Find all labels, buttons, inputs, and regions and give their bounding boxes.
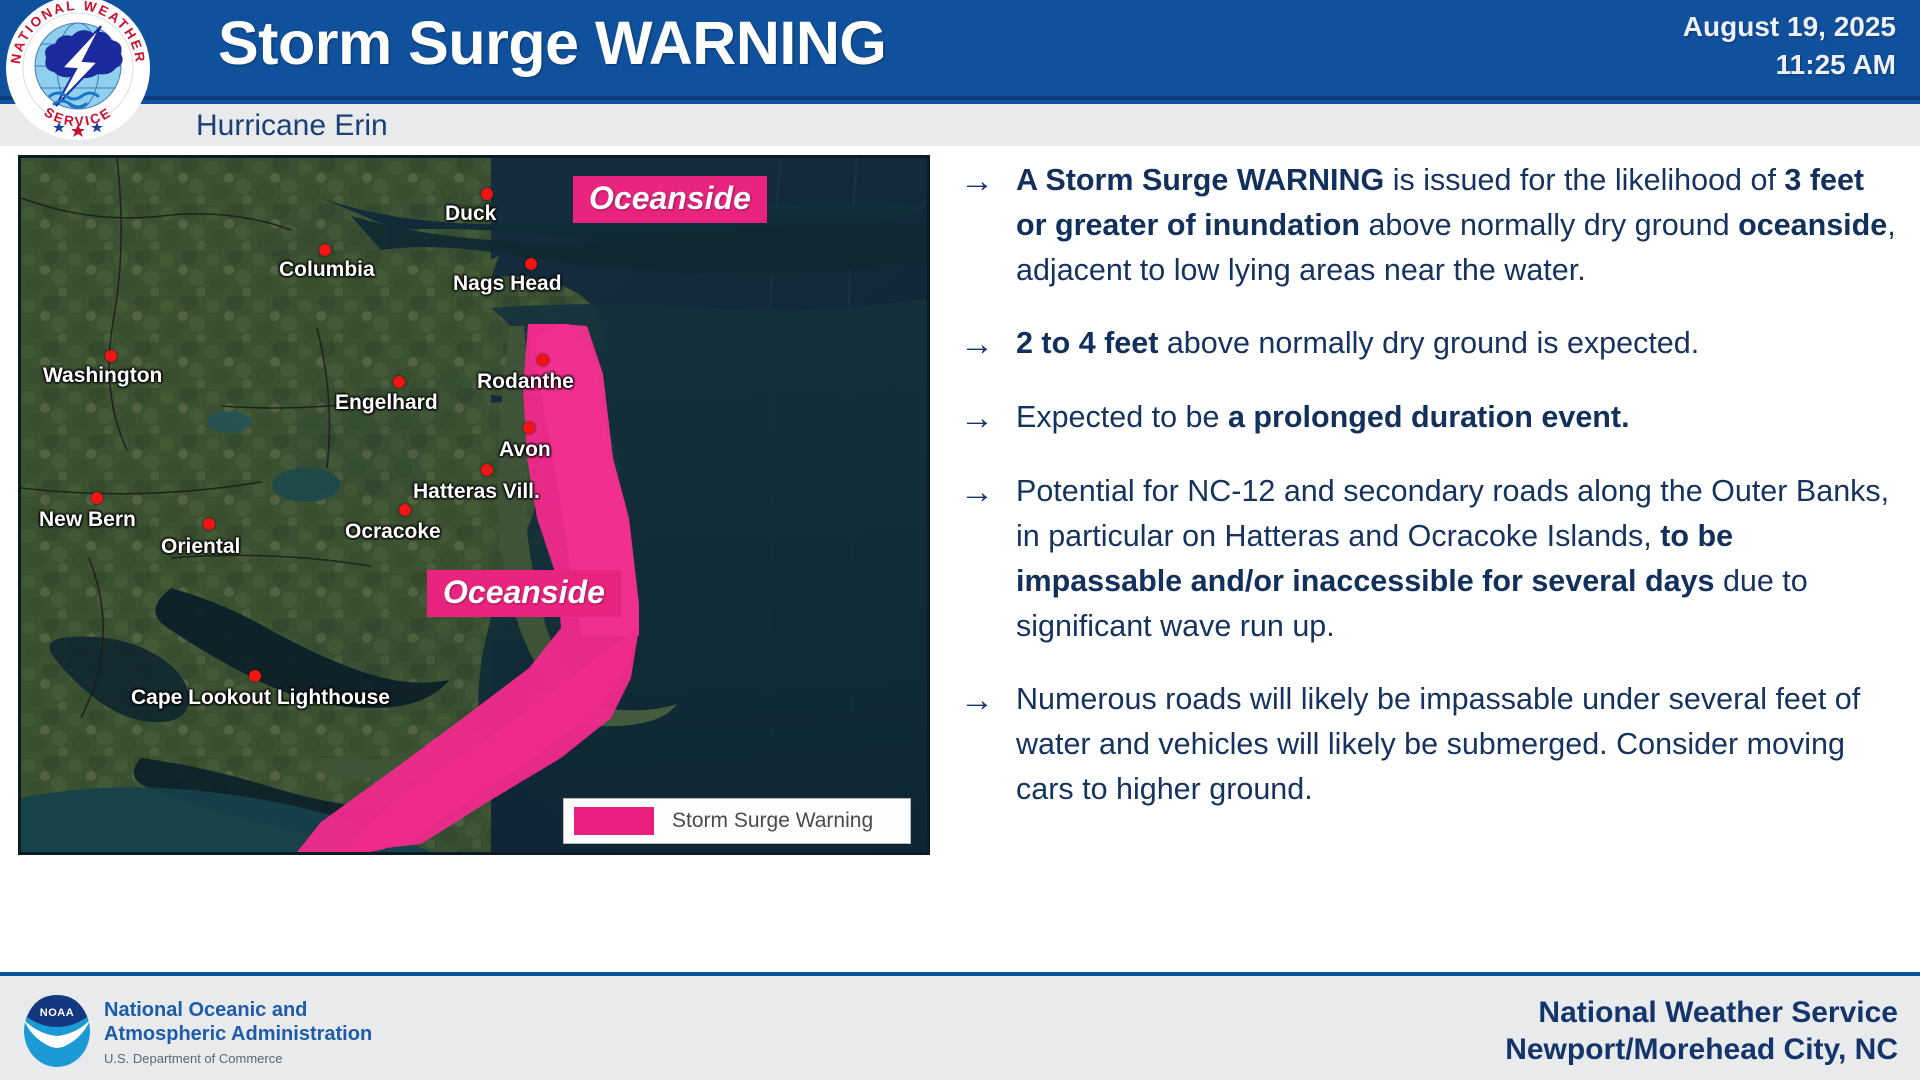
legend-label-storm-surge-warning: Storm Surge Warning bbox=[672, 809, 873, 833]
storm-name-label: Hurricane Erin bbox=[196, 109, 388, 143]
page-title: Storm Surge WARNING bbox=[218, 8, 886, 78]
warning-bullet-text: Potential for NC-12 and secondary roads … bbox=[1016, 469, 1902, 649]
city-marker-duck bbox=[481, 188, 493, 200]
header-datetime: August 19, 2025 11:25 AM bbox=[1683, 8, 1896, 84]
arrow-right-icon: → bbox=[952, 395, 1016, 441]
warning-bullet-text: A Storm Surge WARNING is issued for the … bbox=[1016, 158, 1902, 293]
city-marker-cape-lookout-lighthouse bbox=[249, 670, 261, 682]
noaa-subtitle: U.S. Department of Commerce bbox=[104, 1051, 372, 1066]
office-line2: Newport/Morehead City, NC bbox=[1505, 1031, 1898, 1068]
header-bar: Storm Surge WARNING August 19, 2025 11:2… bbox=[0, 0, 1920, 104]
storm-surge-map[interactable]: Duck Columbia Nags Head Washington Rodan… bbox=[18, 155, 930, 855]
body-text: Numerous roads will likely be impassable… bbox=[1016, 682, 1860, 806]
city-marker-avon bbox=[523, 422, 535, 434]
arrow-right-icon: → bbox=[952, 677, 1016, 723]
svg-text:NOAA: NOAA bbox=[40, 1007, 74, 1019]
header-time: 11:25 AM bbox=[1683, 46, 1896, 84]
city-marker-rodanthe bbox=[537, 354, 549, 366]
warning-details-list: →A Storm Surge WARNING is issued for the… bbox=[952, 158, 1902, 840]
map-legend: Storm Surge Warning bbox=[563, 798, 911, 844]
warning-bullet: →Potential for NC-12 and secondary roads… bbox=[952, 469, 1902, 649]
city-marker-oriental bbox=[203, 518, 215, 530]
emphasis-text: 2 to 4 feet bbox=[1016, 326, 1158, 360]
city-marker-engelhard bbox=[393, 376, 405, 388]
body-text: is issued for the likelihood of bbox=[1384, 163, 1784, 197]
body-text: Potential for NC-12 and secondary roads … bbox=[1016, 474, 1889, 553]
noaa-title-line1: National Oceanic and bbox=[104, 998, 372, 1022]
arrow-right-icon: → bbox=[952, 469, 1016, 515]
national-weather-service-seal-icon: NATIONAL WEATHER SERVICE bbox=[6, 0, 150, 140]
oceanside-tag-south: Oceanside bbox=[427, 570, 621, 617]
header-date: August 19, 2025 bbox=[1683, 8, 1896, 46]
warning-bullet: →Numerous roads will likely be impassabl… bbox=[952, 677, 1902, 812]
noaa-logo-icon: NOAA bbox=[18, 990, 96, 1068]
arrow-right-icon: → bbox=[952, 321, 1016, 367]
emphasis-text: A Storm Surge WARNING bbox=[1016, 163, 1384, 197]
city-marker-nags-head bbox=[525, 258, 537, 270]
city-marker-washington bbox=[105, 350, 117, 362]
warning-bullet-text: Expected to be a prolonged duration even… bbox=[1016, 395, 1902, 440]
city-marker-hatteras-village bbox=[481, 464, 493, 476]
noaa-text-block: National Oceanic and Atmospheric Adminis… bbox=[104, 998, 372, 1066]
map-canvas bbox=[21, 158, 927, 852]
city-marker-new-bern bbox=[91, 492, 103, 504]
warning-bullet: →2 to 4 feet above normally dry ground i… bbox=[952, 321, 1902, 367]
city-marker-columbia bbox=[319, 244, 331, 256]
warning-bullet: →Expected to be a prolonged duration eve… bbox=[952, 395, 1902, 441]
body-text: above normally dry ground is expected. bbox=[1158, 326, 1699, 360]
body-text: above normally dry ground bbox=[1360, 208, 1738, 242]
body-text: Expected to be bbox=[1016, 400, 1228, 434]
storm-surge-warning-graphic: Storm Surge WARNING August 19, 2025 11:2… bbox=[0, 0, 1920, 1080]
city-marker-ocracoke bbox=[399, 504, 411, 516]
footer-bar: NOAA National Oceanic and Atmospheric Ad… bbox=[0, 976, 1920, 1080]
warning-bullet-text: 2 to 4 feet above normally dry ground is… bbox=[1016, 321, 1902, 366]
emphasis-text: a prolonged duration event. bbox=[1228, 400, 1630, 434]
oceanside-tag-north: Oceanside bbox=[573, 176, 767, 223]
emphasis-text: oceanside bbox=[1738, 208, 1887, 242]
warning-bullet: →A Storm Surge WARNING is issued for the… bbox=[952, 158, 1902, 293]
noaa-title-line2: Atmospheric Administration bbox=[104, 1022, 372, 1046]
warning-bullet-text: Numerous roads will likely be impassable… bbox=[1016, 677, 1902, 812]
arrow-right-icon: → bbox=[952, 158, 1016, 204]
office-line1: National Weather Service bbox=[1505, 994, 1898, 1031]
subtitle-bar: Hurricane Erin bbox=[0, 104, 1920, 146]
legend-swatch-storm-surge-warning bbox=[574, 807, 654, 835]
issuing-office: National Weather Service Newport/Morehea… bbox=[1505, 994, 1898, 1068]
